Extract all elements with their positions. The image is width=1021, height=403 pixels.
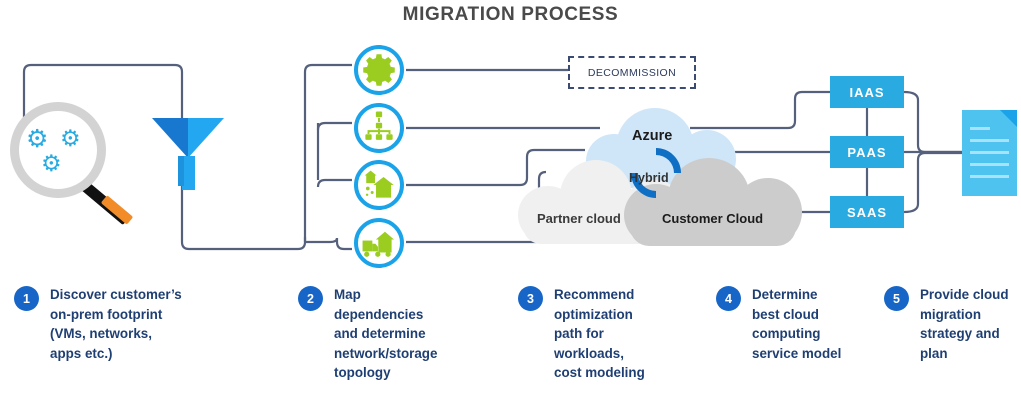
gear-icon: ⚙ xyxy=(60,127,81,150)
step-2: 2 Map dependencies and determine network… xyxy=(298,285,498,383)
funnel-left xyxy=(152,118,188,158)
partner-cloud-label: Partner cloud xyxy=(537,211,621,226)
document-fold-corner xyxy=(1000,110,1017,127)
step-number-badge: 3 xyxy=(518,286,543,311)
process-icon-truck-move[interactable] xyxy=(354,218,404,268)
customer-cloud-label: Customer Cloud xyxy=(662,211,763,226)
step-5: 5 Provide cloud migration strategy and p… xyxy=(884,285,1021,363)
process-icon-buildings[interactable] xyxy=(354,160,404,210)
process-icon-gear[interactable] xyxy=(354,45,404,95)
service-box-paas[interactable]: PAAS xyxy=(830,136,904,168)
step-text: Discover customer’s on-prem footprint (V… xyxy=(50,285,182,363)
hybrid-label: Hybrid xyxy=(629,171,669,185)
step-text: Determine best cloud computing service m… xyxy=(752,285,841,363)
step-1: 1 Discover customer’s on-prem footprint … xyxy=(14,285,229,363)
diagram-canvas: MIGRATION PROCESS xyxy=(0,0,1021,403)
process-icon-topology[interactable] xyxy=(354,103,404,153)
step-number-badge: 4 xyxy=(716,286,741,311)
step-text: Provide cloud migration strategy and pla… xyxy=(920,285,1009,363)
funnel-right xyxy=(188,118,224,158)
azure-cloud-label: Azure xyxy=(632,128,672,144)
document-icon xyxy=(962,110,1017,196)
step-number-badge: 5 xyxy=(884,286,909,311)
step-text: Recommend optimization path for workload… xyxy=(554,285,645,383)
truck-move-icon xyxy=(358,222,400,264)
step-3: 3 Recommend optimization path for worklo… xyxy=(518,285,708,383)
page-title: MIGRATION PROCESS xyxy=(0,4,1021,26)
gear-icon: ⚙ xyxy=(41,152,62,175)
funnel-stem-shade xyxy=(178,156,184,186)
magnifying-glass-icon: ⚙ ⚙ ⚙ xyxy=(8,100,128,220)
service-box-iaas[interactable]: IAAS xyxy=(830,76,904,108)
funnel-icon xyxy=(152,118,224,190)
step-text: Map dependencies and determine network/s… xyxy=(334,285,437,383)
step-number-badge: 1 xyxy=(14,286,39,311)
network-topology-icon xyxy=(358,107,400,149)
step-number-badge: 2 xyxy=(298,286,323,311)
gear-icon: ⚙ xyxy=(26,127,48,152)
gear-icon xyxy=(358,49,400,91)
decommission-box: DECOMMISSION xyxy=(568,56,696,89)
step-4: 4 Determine best cloud computing service… xyxy=(716,285,894,363)
service-box-saas[interactable]: SAAS xyxy=(830,196,904,228)
buildings-icon xyxy=(358,164,400,206)
cloud-group: Azure Hybrid Partner cloud Customer Clou… xyxy=(512,108,802,243)
